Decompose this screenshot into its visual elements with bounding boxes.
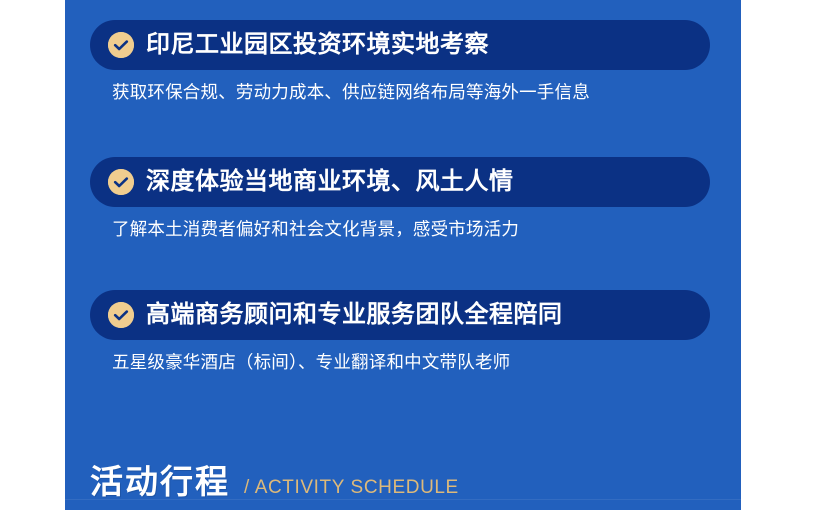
check-circle-icon — [108, 169, 134, 195]
feature-title-pill: 深度体验当地商业环境、风土人情 — [90, 157, 710, 207]
feature-title: 印尼工业园区投资环境实地考察 — [146, 33, 489, 57]
feature-title-pill: 印尼工业园区投资环境实地考察 — [90, 20, 710, 70]
section-heading-en: / ACTIVITY SCHEDULE — [244, 478, 459, 497]
section-heading: 活动行程 / ACTIVITY SCHEDULE — [90, 465, 459, 498]
feature-description: 了解本土消费者偏好和社会文化背景，感受市场活力 — [112, 219, 712, 240]
check-circle-icon — [108, 302, 134, 328]
section-heading-cn: 活动行程 — [90, 465, 230, 498]
feature-title: 深度体验当地商业环境、风土人情 — [146, 170, 514, 194]
poster-canvas: 印尼工业园区投资环境实地考察 获取环保合规、劳动力成本、供应链网络布局等海外一手… — [0, 0, 819, 510]
check-circle-icon — [108, 32, 134, 58]
feature-description: 获取环保合规、劳动力成本、供应链网络布局等海外一手信息 — [112, 82, 712, 103]
feature-description: 五星级豪华酒店（标间）、专业翻译和中文带队老师 — [112, 352, 712, 373]
feature-title-pill: 高端商务顾问和专业服务团队全程陪同 — [90, 290, 710, 340]
feature-title: 高端商务顾问和专业服务团队全程陪同 — [146, 303, 563, 327]
blue-content-panel: 印尼工业园区投资环境实地考察 获取环保合规、劳动力成本、供应链网络布局等海外一手… — [65, 0, 741, 510]
